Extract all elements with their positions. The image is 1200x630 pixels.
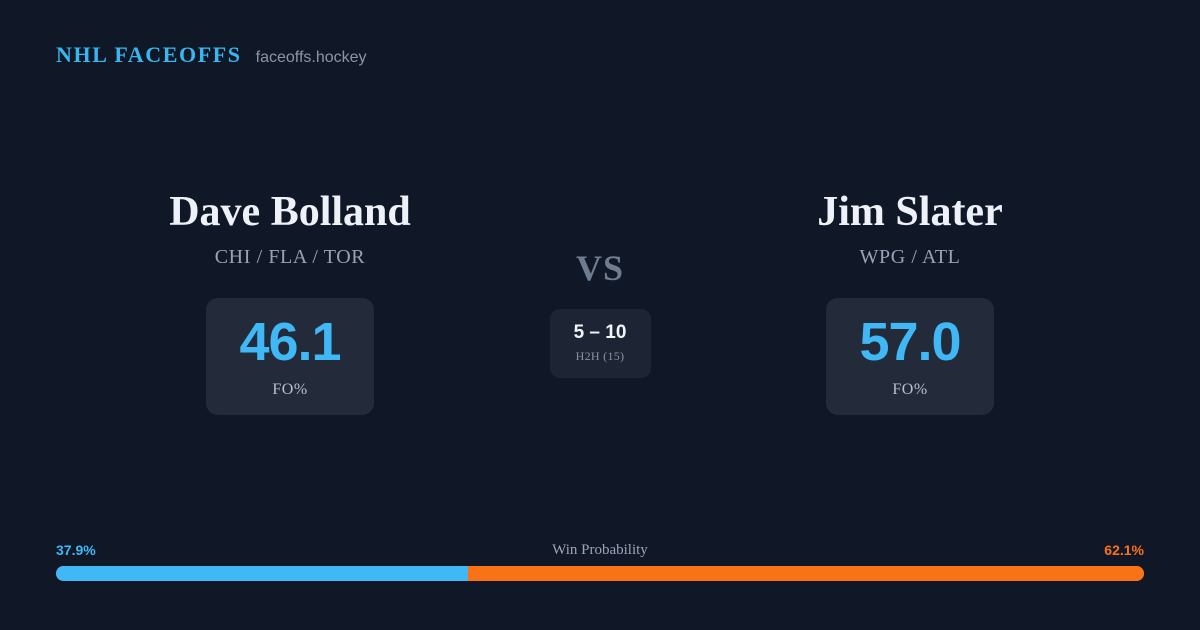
faceoff-percent-value-right: 57.0: [859, 315, 960, 369]
win-probability-title: Win Probability: [56, 540, 1144, 560]
faceoff-percent-value-left: 46.1: [239, 315, 340, 369]
player-card-right: Jim Slater WPG / ATL 57.0 FO%: [700, 190, 1120, 415]
win-probability-bar-left-segment: [56, 566, 468, 581]
matchup-section: Dave Bolland CHI / FLA / TOR 46.1 FO% VS…: [0, 190, 1200, 415]
player-name-left: Dave Bolland: [169, 190, 411, 234]
win-probability-bar: [56, 566, 1144, 581]
faceoff-percent-label-right: FO%: [892, 381, 927, 399]
head-to-head-record: 5 – 10: [574, 323, 627, 342]
faceoff-stat-card-right: 57.0 FO%: [826, 298, 994, 415]
player-teams-left: CHI / FLA / TOR: [215, 246, 366, 269]
faceoff-stat-card-left: 46.1 FO%: [206, 298, 374, 415]
win-probability-right-value: 62.1%: [1104, 540, 1144, 560]
player-card-left: Dave Bolland CHI / FLA / TOR 46.1 FO%: [80, 190, 500, 415]
head-to-head-label: H2H (15): [576, 349, 625, 364]
versus-label: VS: [576, 250, 624, 286]
brand-title: NHL FACEOFFS: [56, 44, 242, 66]
player-teams-right: WPG / ATL: [860, 246, 961, 269]
player-name-right: Jim Slater: [817, 190, 1002, 234]
faceoff-percent-label-left: FO%: [272, 381, 307, 399]
win-probability-labels: 37.9% Win Probability 62.1%: [56, 540, 1144, 560]
versus-section: VS 5 – 10 H2H (15): [500, 190, 700, 378]
win-probability-section: 37.9% Win Probability 62.1%: [56, 540, 1144, 581]
brand-domain: faceoffs.hockey: [256, 50, 367, 66]
win-probability-bar-right-segment: [468, 566, 1144, 581]
page-header: NHL FACEOFFS faceoffs.hockey: [56, 44, 367, 66]
head-to-head-card: 5 – 10 H2H (15): [550, 309, 651, 378]
